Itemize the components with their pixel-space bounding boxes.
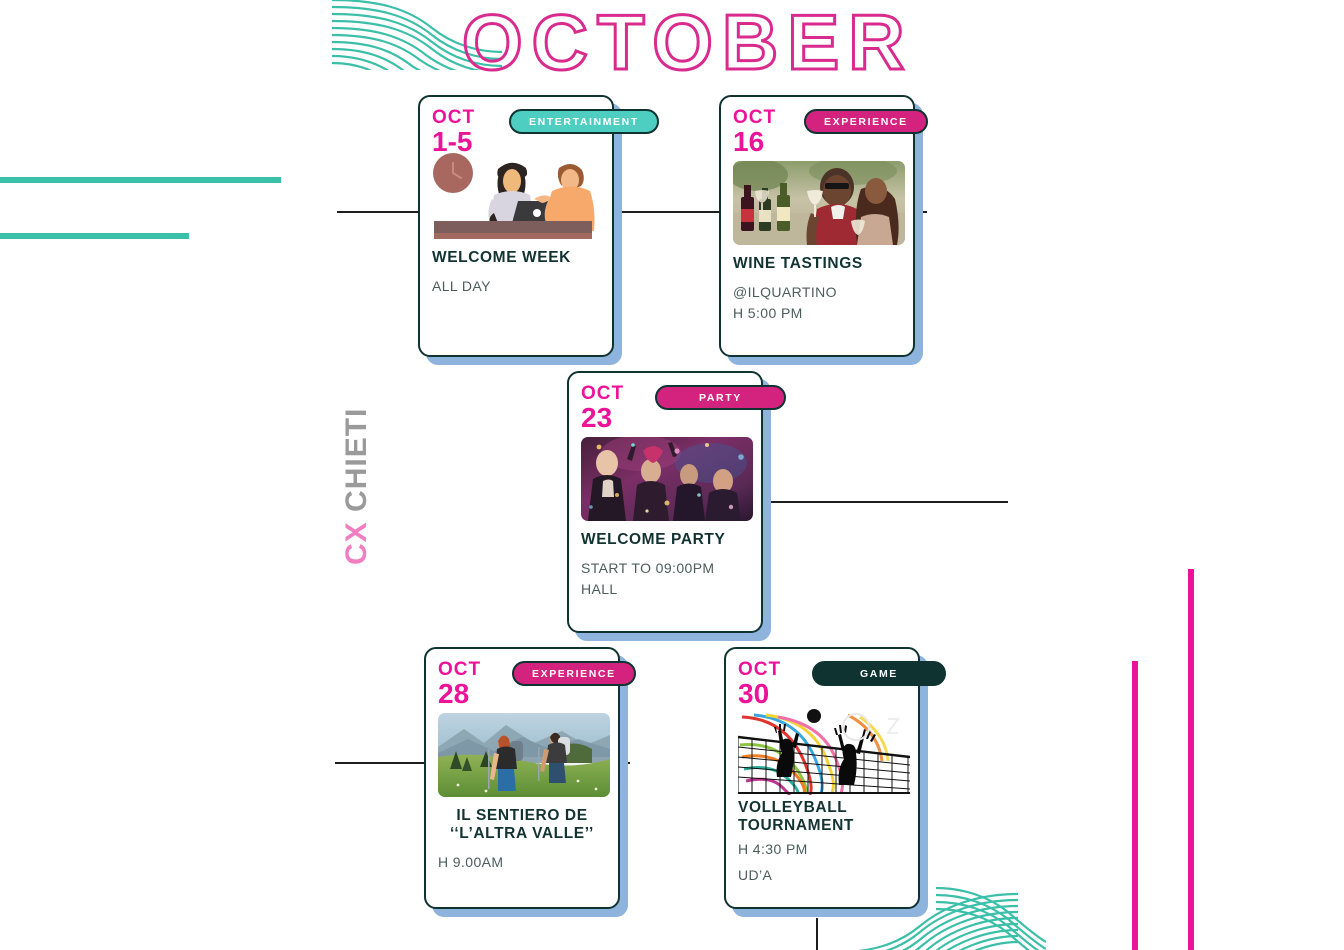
poster-canvas: OCTOBER CX CHIETI OCT 1-5	[0, 0, 1344, 950]
card-meta-line: UD’A	[738, 865, 906, 886]
card-meta: H 4:30 PM UD’A	[738, 839, 906, 886]
connector-line-row2-right	[766, 501, 1008, 503]
connector-line-card5-bottom	[816, 918, 818, 950]
card-meta-line: H 4:30 PM	[738, 839, 906, 860]
card-title-line2: ‘‘L’ALTRA VALLE’’	[438, 825, 606, 843]
badge-entertainment[interactable]: ENTERTAINMENT	[509, 109, 659, 134]
badge-experience[interactable]: EXPERIENCE	[804, 109, 928, 134]
card-media-hiking-mountain-photo	[438, 713, 610, 797]
card-meta-line: START TO 09:00PM	[581, 558, 749, 579]
wave-decoration-bottom-right-2	[936, 878, 1046, 950]
card-title: WELCOME WEEK	[432, 249, 600, 267]
card-meta: @ILQUARTINO H 5:00 PM	[733, 282, 901, 324]
card-meta-line: H 9.00AM	[438, 852, 606, 873]
card-meta-line: HALL	[581, 579, 749, 600]
pink-accent-bar-2	[1188, 569, 1194, 950]
card-title: WINE TASTINGS	[733, 255, 901, 273]
badge-experience[interactable]: EXPERIENCE	[512, 661, 636, 686]
card-body: OCT 28	[424, 647, 620, 909]
card-meta: START TO 09:00PM HALL	[581, 558, 749, 600]
card-meta-line: ALL DAY	[432, 276, 600, 297]
brand-vertical-label: CX CHIETI	[341, 373, 375, 565]
card-meta: H 9.00AM	[438, 852, 606, 873]
card-body: OCT 30	[724, 647, 920, 909]
card-body: OCT 23	[567, 371, 763, 633]
card-title: WELCOME PARTY	[581, 531, 749, 549]
card-body: OCT 1-5	[418, 95, 614, 357]
card-title-line1: VOLLEYBALL	[738, 799, 906, 817]
card-media-office-desk-illustration	[432, 151, 604, 239]
card-title: VOLLEYBALL TOURNAMENT	[738, 799, 906, 835]
card-body: OCT 16	[719, 95, 915, 357]
card-meta: ALL DAY	[432, 276, 600, 297]
brand-prefix: CX	[340, 521, 373, 565]
card-media-volleyball-illustration	[738, 709, 910, 795]
card-title: IL SENTIERO DE ‘‘L’ALTRA VALLE’’	[438, 807, 606, 843]
card-title-line1: IL SENTIERO DE	[438, 807, 606, 825]
page-title: OCTOBER	[462, 2, 914, 82]
badge-game[interactable]: GAME	[812, 661, 946, 686]
card-meta-line: H 5:00 PM	[733, 303, 901, 324]
brand-name: CHIETI	[340, 408, 373, 512]
teal-accent-bar-2	[0, 233, 189, 239]
card-meta-line: @ILQUARTINO	[733, 282, 901, 303]
card-media-wine-tasting-photo	[733, 161, 905, 245]
card-title-line2: TOURNAMENT	[738, 817, 906, 835]
badge-party[interactable]: PARTY	[655, 385, 786, 410]
pink-accent-bar-1	[1132, 661, 1138, 950]
card-media-night-party-photo	[581, 437, 753, 521]
teal-accent-bar-1	[0, 177, 281, 183]
